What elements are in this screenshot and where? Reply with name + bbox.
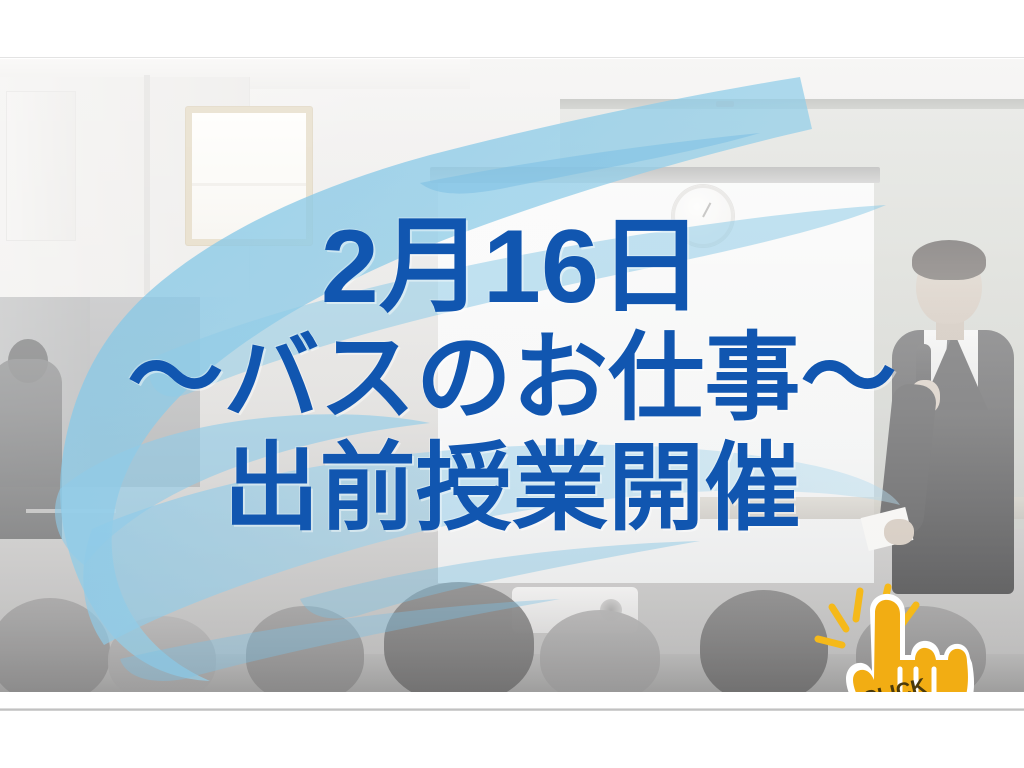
bottom-divider-rule xyxy=(0,708,1024,711)
headline-line-date: 2月16日 xyxy=(321,212,703,322)
top-divider-rule xyxy=(0,57,1024,58)
headline-line-event: 出前授業開催 xyxy=(224,438,801,540)
click-here-cursor[interactable]: CLICK HERE! xyxy=(812,583,982,692)
bottom-white-area xyxy=(0,692,1024,768)
headline-line-subject: 〜バスのお仕事〜 xyxy=(127,328,896,430)
event-announcement-banner[interactable]: 2月16日 〜バスのお仕事〜 出前授業開催 xyxy=(0,59,1024,692)
page-root: 2月16日 〜バスのお仕事〜 出前授業開催 xyxy=(0,0,1024,768)
click-here-cursor-icon[interactable]: CLICK HERE! xyxy=(812,583,982,692)
top-white-band xyxy=(0,0,1024,57)
